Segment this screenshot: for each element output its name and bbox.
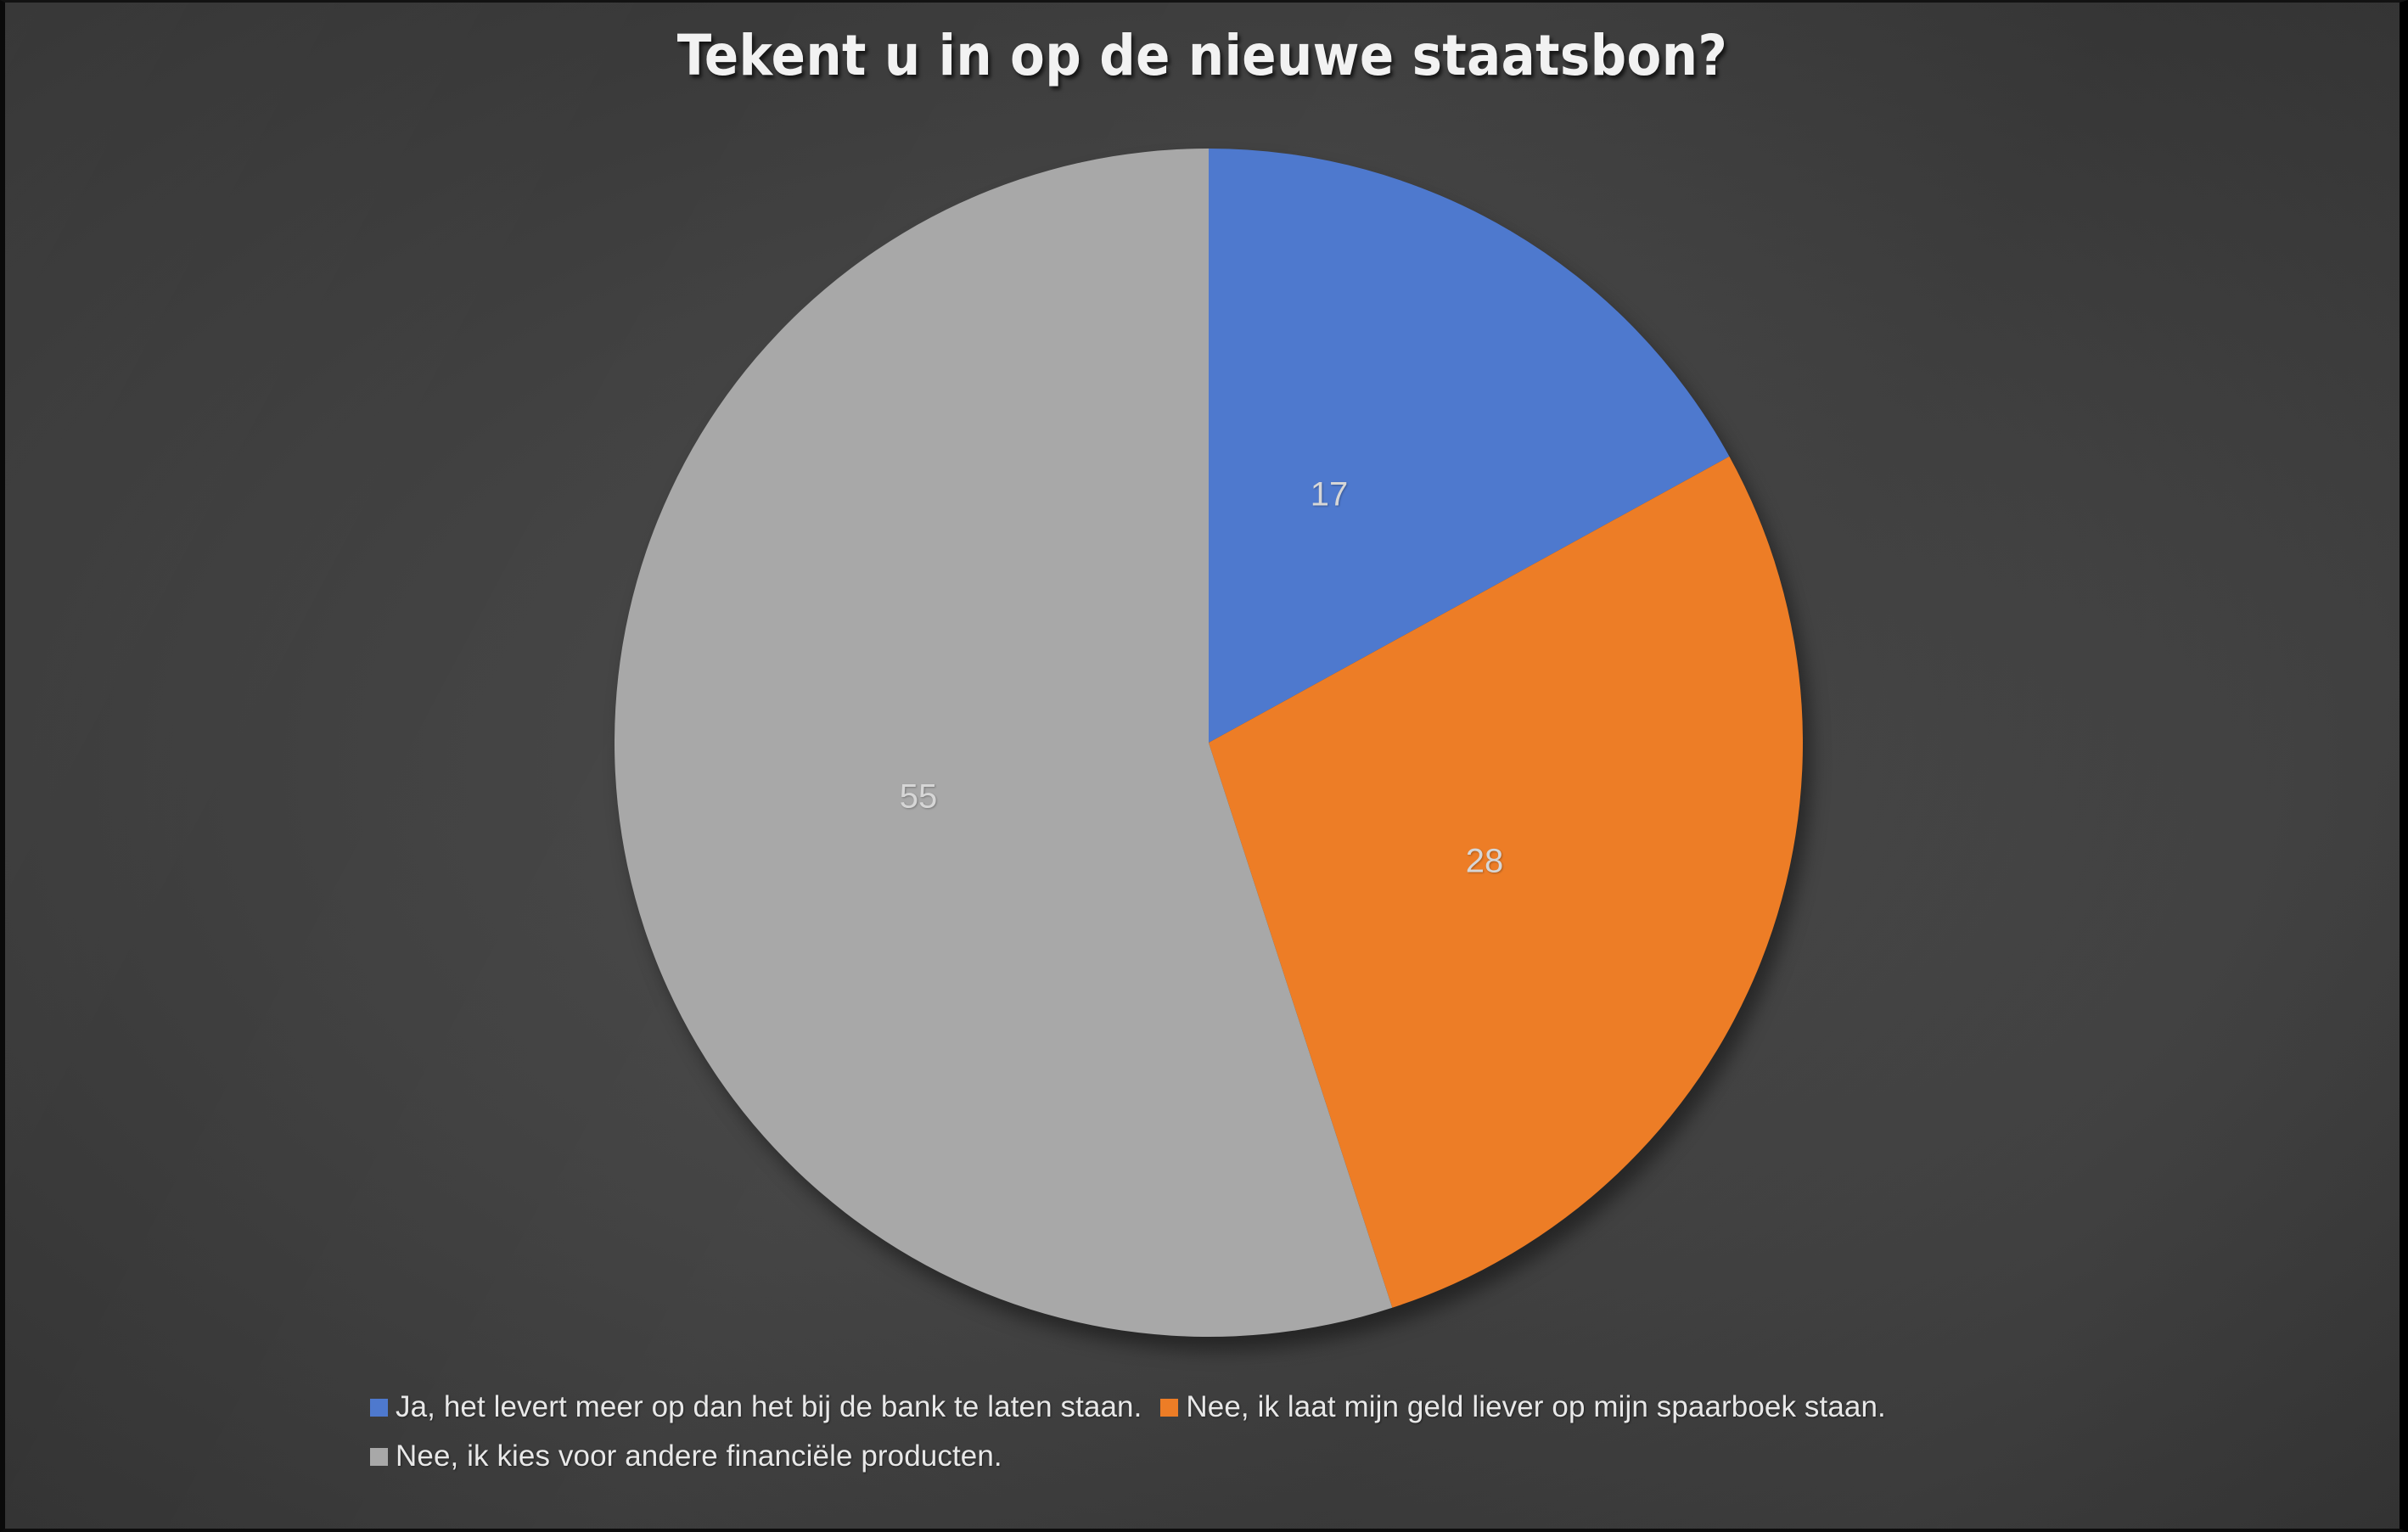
legend-item-spaarboek[interactable]: Nee, ik laat mijn geld liever op mijn sp… xyxy=(1160,1390,1885,1424)
pie-graphic: 17 28 55 xyxy=(615,149,1803,1337)
slice-label-andere-producten: 55 xyxy=(900,778,938,817)
slide-canvas: Tekent u in op de nieuwe staatsbon? 17 2… xyxy=(0,0,2408,1532)
legend-label: Ja, het levert meer op dan het bij de ba… xyxy=(396,1390,1142,1424)
chart-legend: Ja, het levert meer op dan het bij de ba… xyxy=(370,1383,2153,1481)
pie-chart-plot-area: 17 28 55 xyxy=(5,3,2408,1361)
legend-swatch-icon xyxy=(370,1399,388,1417)
legend-swatch-icon xyxy=(1160,1399,1178,1417)
slice-label-spaarboek: 28 xyxy=(1466,843,1504,881)
legend-label: Nee, ik laat mijn geld liever op mijn sp… xyxy=(1186,1390,1885,1424)
pie-slices-svg xyxy=(615,149,1803,1337)
legend-row: Ja, het levert meer op dan het bij de ba… xyxy=(370,1383,2153,1432)
legend-label: Nee, ik kies voor andere financiële prod… xyxy=(396,1439,1002,1473)
legend-row: Nee, ik kies voor andere financiële prod… xyxy=(370,1432,2153,1481)
legend-item-andere-producten[interactable]: Nee, ik kies voor andere financiële prod… xyxy=(370,1439,1002,1473)
slice-label-ja: 17 xyxy=(1311,476,1349,514)
legend-item-ja[interactable]: Ja, het levert meer op dan het bij de ba… xyxy=(370,1390,1142,1424)
legend-swatch-icon xyxy=(370,1448,388,1466)
